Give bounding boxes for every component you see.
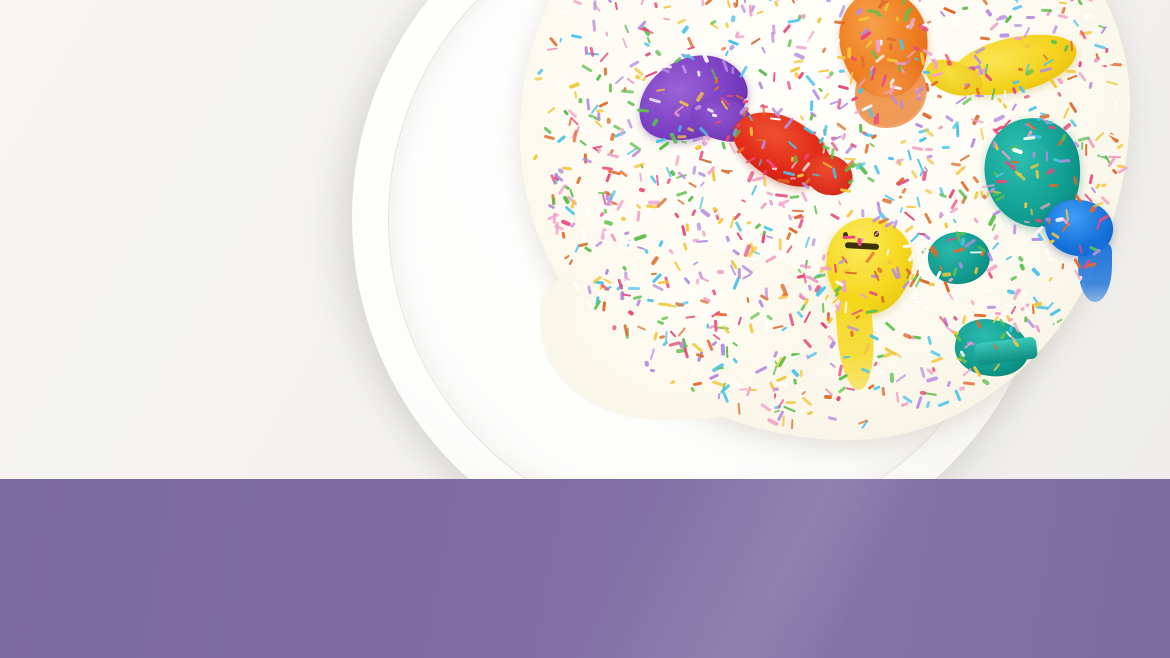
sprinkle [726,95,733,97]
sprinkle [638,187,644,192]
sprinkle [717,270,724,274]
sprinkle [696,222,701,231]
sprinkle [810,100,814,111]
sprinkle [913,291,916,299]
sprinkle [903,245,911,248]
sprinkle [954,290,958,302]
sprinkle [1049,183,1058,187]
sprinkle [680,341,684,348]
sprinkle [725,170,733,172]
sprinkle [1045,217,1050,221]
sprinkle [706,323,708,328]
hero-photo [0,0,1170,480]
sprinkle [929,283,935,287]
sprinkle [1014,24,1022,26]
sprinkle [881,387,885,396]
sprinkle [701,0,704,6]
sprinkle [1053,318,1057,327]
sprinkle [889,44,892,50]
sprinkle [777,178,790,183]
sprinkle [898,64,902,72]
sprinkle [628,287,640,290]
sprinkle [685,223,689,232]
sprinkle [890,373,894,383]
sprinkle [612,325,616,330]
sprinkle [750,389,757,391]
sprinkle [1048,121,1053,124]
sprinkle [847,48,851,59]
sprinkle [900,100,904,110]
sprinkle [609,84,612,93]
sprinkle [739,388,747,391]
sprinkle [746,201,757,204]
sprinkle [970,250,982,253]
sprinkle [821,303,824,313]
sprinkle [975,95,984,97]
sprinkle [764,287,768,298]
sprinkle [553,197,556,205]
sprinkle [925,148,933,151]
sprinkle [651,272,657,275]
sprinkle [986,306,995,309]
sprinkle [894,62,905,65]
sprinkle [837,55,846,58]
sprinkle [1085,143,1087,155]
sprinkle [806,354,809,360]
sprinkle [786,401,796,404]
sprinkle [621,89,634,93]
sprinkle [857,238,861,246]
sprinkle [790,177,796,180]
sprinkle [665,331,667,342]
sprinkle [962,6,969,10]
sprinkle [603,67,607,76]
slide-root: LEADERSHIP &VALUES IN ACTION Moving Beyo… [0,0,1170,658]
sprinkle [974,314,986,318]
sprinkle [735,0,738,7]
sprinkle [781,416,784,427]
sprinkle [1081,142,1083,150]
sprinkle [772,72,775,82]
sprinkle [726,346,729,358]
sprinkle [1032,152,1035,158]
sprinkle [992,140,996,147]
sprinkle [1066,69,1076,72]
sprinkle [728,0,741,2]
sprinkle [995,312,1001,315]
sprinkle [790,157,793,162]
sprinkle [906,205,916,208]
sprinkle [676,135,685,139]
sprinkle [603,231,607,239]
footer-band: LEADERSHIP &VALUES IN ACTION Moving Beyo… [0,479,1170,658]
sprinkle [605,31,608,37]
sprinkle [1114,98,1117,110]
sprinkle [731,67,734,74]
sprinkle [901,0,906,5]
sprinkle [650,369,656,372]
sprinkle [1026,16,1035,19]
sprinkle [996,180,1007,183]
sprinkle [778,238,781,250]
sprinkle [770,32,774,44]
sprinkle [790,419,793,429]
sprinkle [748,5,752,17]
sprinkle [765,319,768,330]
sprinkle [593,0,596,10]
sprinkle [980,190,984,196]
sprinkle [999,34,1010,38]
sprinkle [1055,217,1063,222]
sprinkle [887,260,893,264]
